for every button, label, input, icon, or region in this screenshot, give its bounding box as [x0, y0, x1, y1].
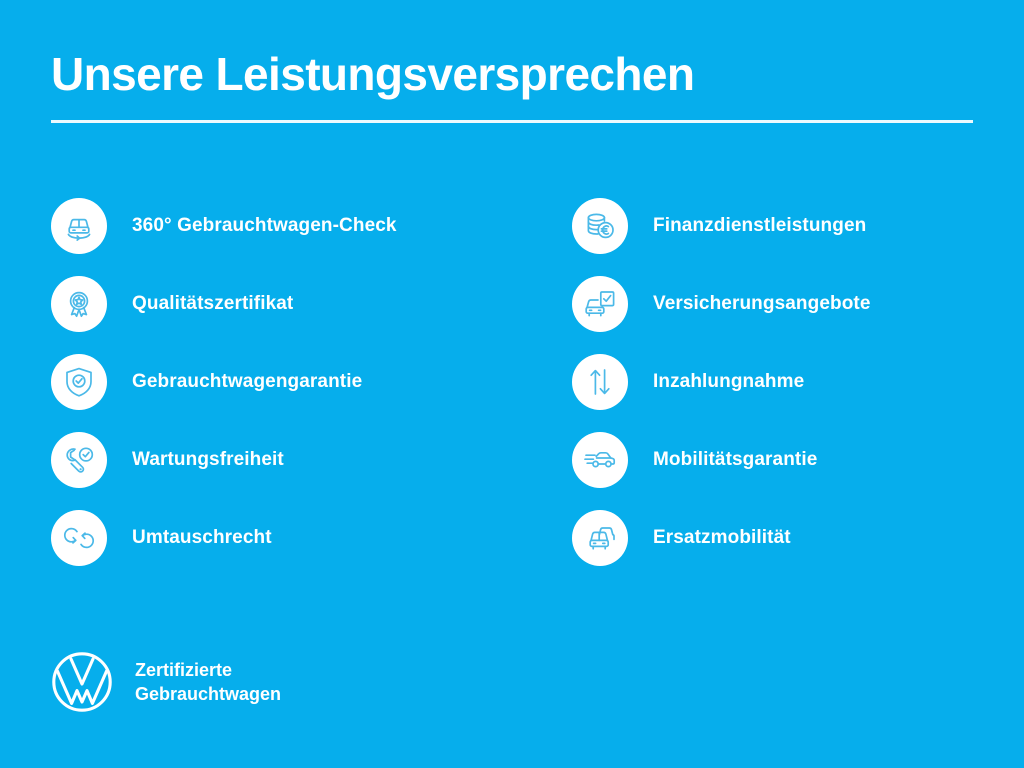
- promise-item: Qualitätszertifikat: [51, 276, 521, 332]
- promise-item: Finanzdienstleistungen: [572, 198, 992, 254]
- promise-item: Mobilitätsgarantie: [572, 432, 992, 488]
- wrench-check-icon: [51, 432, 107, 488]
- promise-label: Ersatzmobilität: [653, 527, 791, 549]
- promise-label: 360° Gebrauchtwagen-Check: [132, 215, 397, 237]
- volkswagen-logo-icon: [51, 651, 113, 713]
- promise-item: Versicherungsangebote: [572, 276, 992, 332]
- page-title: Unsere Leistungsversprechen: [51, 50, 973, 98]
- promise-label: Wartungsfreiheit: [132, 449, 284, 471]
- promises-grid: 360° Gebrauchtwagen-Check Qualitätszerti…: [0, 198, 1024, 588]
- promise-label: Gebrauchtwagengarantie: [132, 371, 362, 393]
- promises-column-left: 360° Gebrauchtwagen-Check Qualitätszerti…: [51, 198, 521, 588]
- coins-euro-icon: [572, 198, 628, 254]
- promises-column-right: Finanzdienstleistungen Versicheru: [572, 198, 992, 588]
- car-360-check-icon: [51, 198, 107, 254]
- promise-label: Inzahlungnahme: [653, 371, 804, 393]
- footer-text: Zertifizierte Gebrauchtwagen: [135, 658, 281, 706]
- exchange-arrows-icon: [51, 510, 107, 566]
- footer-brand: Zertifizierte Gebrauchtwagen: [51, 651, 281, 713]
- title-divider: [51, 120, 973, 123]
- promise-item: Umtauschrecht: [51, 510, 521, 566]
- promise-label: Versicherungsangebote: [653, 293, 871, 315]
- footer-line-2: Gebrauchtwagen: [135, 682, 281, 706]
- promise-label: Mobilitätsgarantie: [653, 449, 817, 471]
- car-document-check-icon: [572, 276, 628, 332]
- promise-label: Finanzdienstleistungen: [653, 215, 866, 237]
- promise-item: 360° Gebrauchtwagen-Check: [51, 198, 521, 254]
- slide-root: Unsere Leistungsversprechen 36: [0, 0, 1024, 768]
- header: Unsere Leistungsversprechen: [51, 50, 973, 123]
- up-down-arrows-icon: [572, 354, 628, 410]
- promise-item: Wartungsfreiheit: [51, 432, 521, 488]
- promise-label: Qualitätszertifikat: [132, 293, 293, 315]
- two-cars-icon: [572, 510, 628, 566]
- promise-item: Gebrauchtwagengarantie: [51, 354, 521, 410]
- promise-item: Ersatzmobilität: [572, 510, 992, 566]
- promise-item: Inzahlungnahme: [572, 354, 992, 410]
- car-speed-icon: [572, 432, 628, 488]
- award-rosette-icon: [51, 276, 107, 332]
- shield-check-icon: [51, 354, 107, 410]
- footer-line-1: Zertifizierte: [135, 658, 281, 682]
- promise-label: Umtauschrecht: [132, 527, 272, 549]
